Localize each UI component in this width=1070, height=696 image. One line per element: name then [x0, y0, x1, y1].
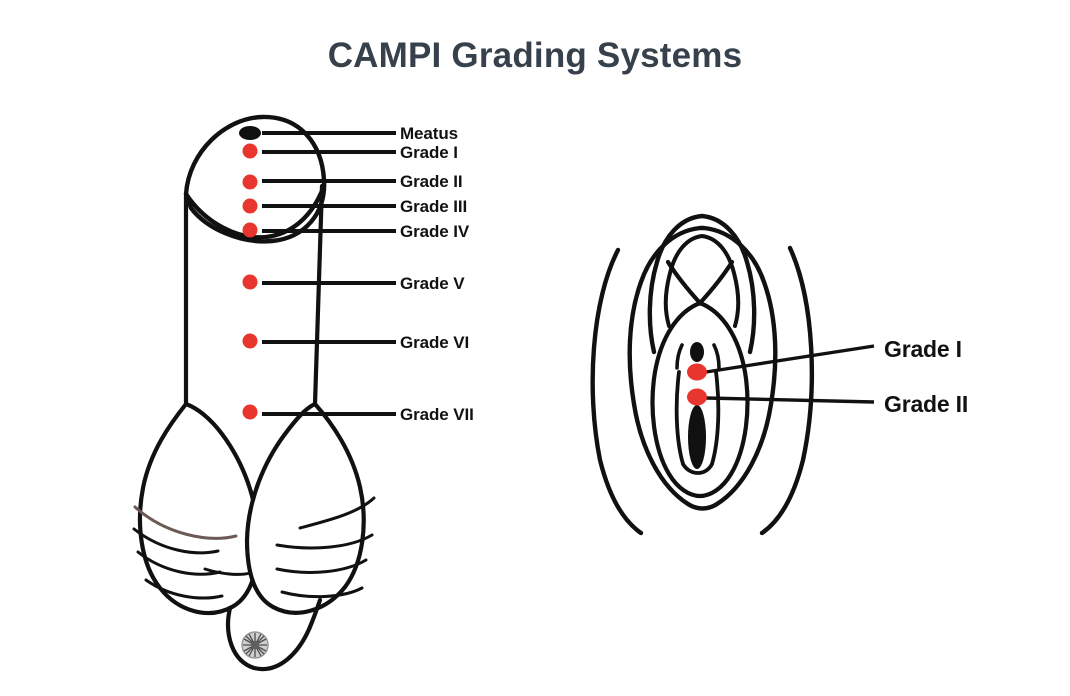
marker-grade-5	[243, 275, 258, 290]
vestibule-arc-right	[714, 345, 719, 368]
female-genital-diagram	[593, 216, 874, 533]
label-grade-2: Grade II	[400, 173, 463, 190]
marker-grade-7	[243, 405, 258, 420]
label-grade-5: Grade V	[400, 275, 465, 292]
marker-f-grade-1	[687, 364, 707, 381]
labia-majora-right-arc	[762, 248, 812, 533]
marker-f-grade-2	[687, 389, 707, 406]
label-f-grade-1: Grade I	[884, 338, 962, 361]
label-meatus: Meatus	[400, 125, 458, 142]
marker-grade-2	[243, 175, 258, 190]
label-grade-4: Grade IV	[400, 223, 469, 240]
marker-grade-6	[243, 334, 258, 349]
mons-inner-contour	[666, 236, 739, 326]
female-leader-lines	[706, 346, 874, 402]
label-grade-7: Grade VII	[400, 406, 474, 423]
label-grade-3: Grade III	[400, 198, 467, 215]
label-grade-6: Grade VI	[400, 334, 469, 351]
leader-line-f-grade-2	[706, 398, 874, 402]
marker-meatus	[239, 126, 261, 140]
marker-grade-3	[243, 199, 258, 214]
marker-grade-1	[243, 144, 258, 159]
clitoral-hood-vee	[668, 262, 732, 303]
vestibule-wall-left	[677, 372, 683, 464]
vestibule-arc-left	[677, 345, 682, 368]
marker-grade-4	[243, 223, 258, 238]
vaginal-introitus	[688, 405, 706, 469]
scrotum-right-sac	[247, 404, 364, 613]
anus-marker	[242, 632, 268, 658]
marker-urethral-meatus	[690, 342, 704, 362]
leader-line-f-grade-1	[706, 346, 874, 372]
label-grade-1: Grade I	[400, 144, 458, 161]
label-f-grade-2: Grade II	[884, 393, 968, 416]
male-genital-diagram	[134, 117, 396, 669]
scrotum-left-sac	[140, 404, 258, 613]
vestibule-wall-right	[712, 372, 718, 464]
